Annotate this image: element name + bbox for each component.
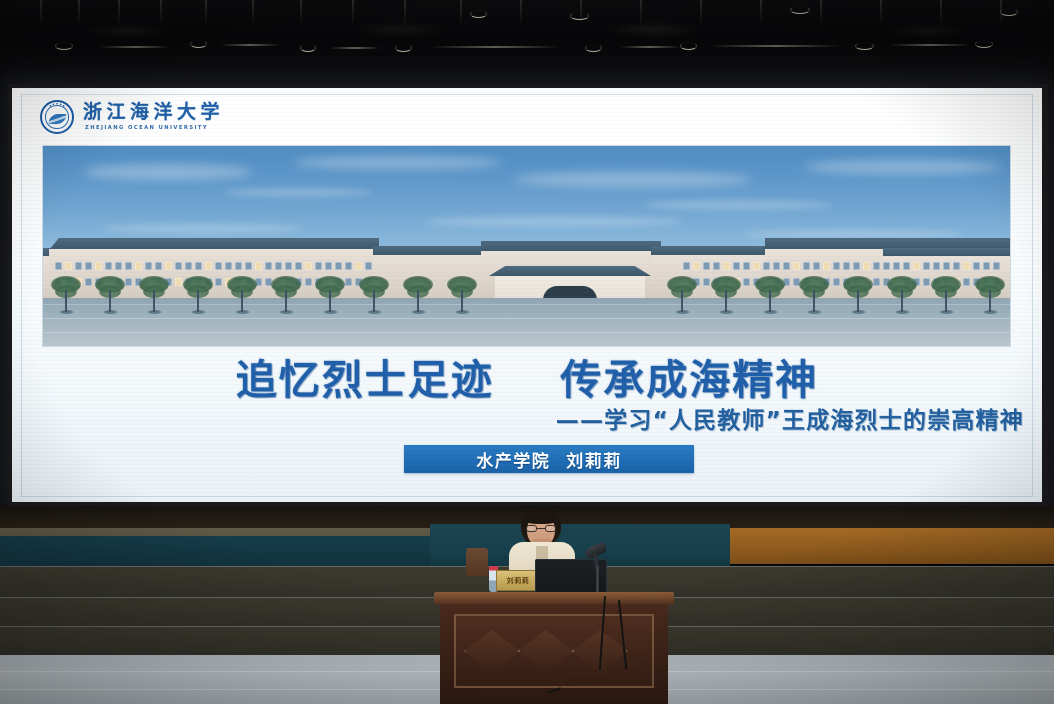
lectern-diamond-pattern: [464, 630, 644, 672]
presenter-banner: 水产学院刘莉莉: [404, 445, 694, 473]
presentation-slide: 浙江海洋大学 ZHEJIANG OCEAN UNIVERSITY: [12, 88, 1042, 502]
university-name-en: ZHEJIANG OCEAN UNIVERSITY: [85, 126, 224, 131]
slide-title: 追忆烈士足迹 传承成海精神: [12, 346, 1042, 406]
university-logo: 浙江海洋大学 ZHEJIANG OCEAN UNIVERSITY: [40, 100, 224, 134]
wooden-lectern: [440, 592, 668, 704]
lecture-hall-scene: 浙江海洋大学 ZHEJIANG OCEAN UNIVERSITY: [0, 0, 1054, 704]
presenter-name: 刘莉莉: [566, 452, 622, 472]
presenter-department: 水产学院: [476, 452, 550, 472]
ceiling-light-icon: [1000, 8, 1018, 16]
ceiling-light-icon: [470, 10, 487, 18]
university-name-cn: 浙江海洋大学: [83, 103, 224, 122]
presenter-fringe: [523, 511, 559, 524]
slide-subtitle: ——学习“人民教师”王成海烈士的崇高精神: [556, 401, 1024, 435]
name-plate: 刘莉莉: [496, 570, 540, 591]
chair-back: [466, 548, 488, 576]
ceiling-light-icon: [585, 44, 602, 52]
ceiling-light-icon: [680, 42, 697, 50]
slide-title-right: 传承成海精神: [560, 356, 818, 404]
ceiling-light-icon: [855, 42, 874, 50]
ceiling-light-icon: [55, 42, 73, 50]
ceiling-light-icon: [190, 40, 207, 48]
slide-title-left: 追忆烈士足迹: [236, 356, 494, 404]
campus-panorama-photo: [43, 146, 1010, 346]
ceiling-light-icon: [975, 40, 993, 48]
name-plate-text: 刘莉莉: [507, 576, 530, 586]
stage-backdrop-left: [0, 536, 440, 566]
university-seal-icon: [40, 100, 74, 134]
glasses-icon: [526, 525, 556, 532]
ceiling-light-icon: [395, 44, 412, 52]
ceiling-light-icon: [300, 44, 316, 52]
ceiling-light-icon: [570, 12, 589, 20]
ceiling-light-icon: [790, 6, 810, 14]
auditorium-ceiling: [0, 0, 1054, 62]
